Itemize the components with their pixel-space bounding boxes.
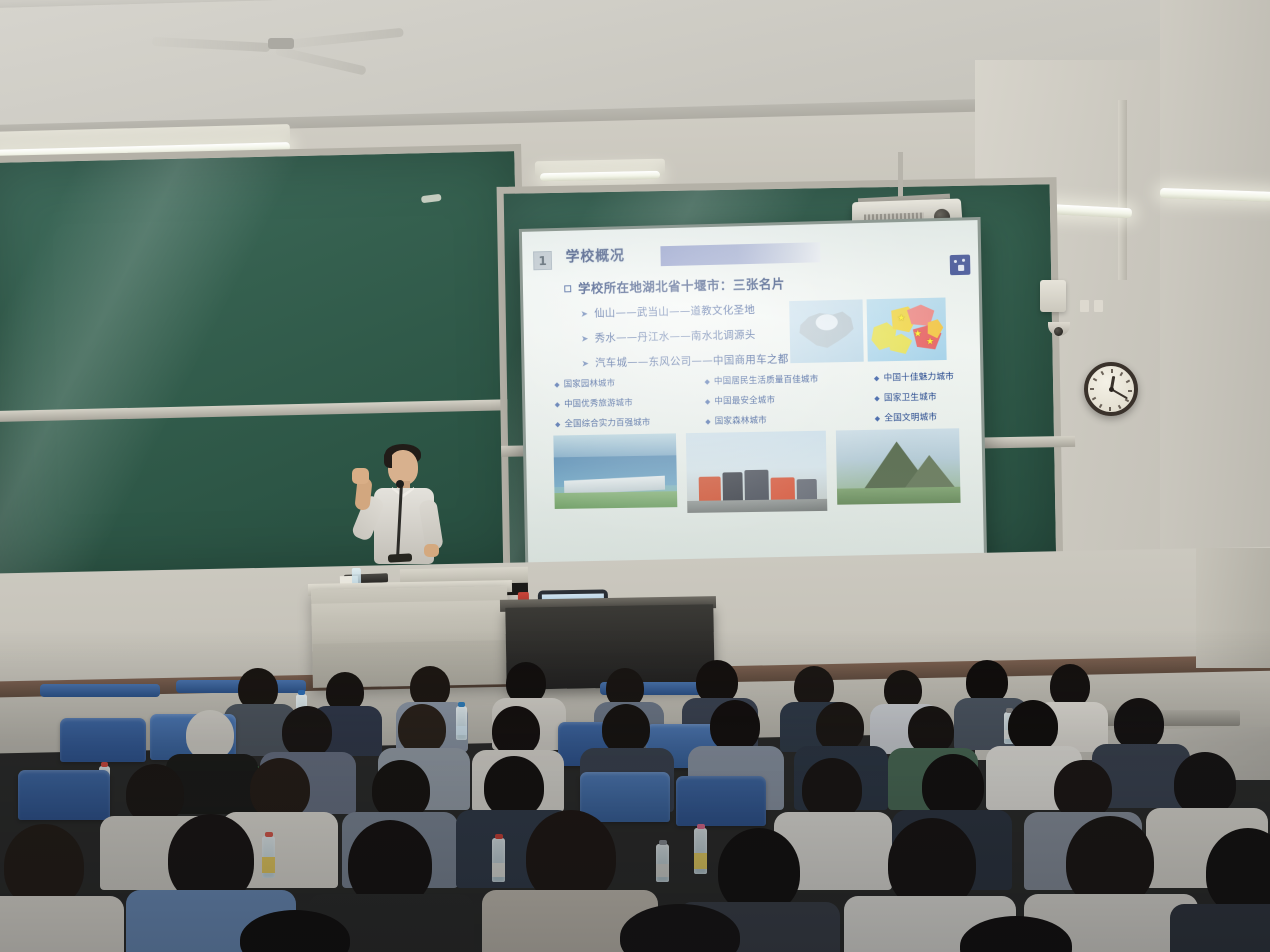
slide-awards: ◆国家园林城市 ◆中国优秀旅游城市 ◆全国综合实力百强城市 ◆中国居民生活质量百… xyxy=(554,370,955,430)
award-item: ◆中国十佳魅力城市 xyxy=(874,370,954,384)
list-item: ➤秀水——丹江水——南水北调源头 xyxy=(581,326,788,345)
wall-speaker xyxy=(1040,280,1066,312)
presenter-raised-fist xyxy=(352,468,369,484)
water-bottle xyxy=(656,844,669,882)
presenter-right-hand xyxy=(424,544,439,557)
microphone-head-icon xyxy=(396,480,404,488)
lecture-seat[interactable] xyxy=(60,718,146,762)
diamond-bullet-icon: ◆ xyxy=(555,421,561,429)
wall-pipe xyxy=(1118,100,1127,280)
award-item: ◆国家卫生城市 xyxy=(874,390,954,404)
water-bottle xyxy=(456,706,467,740)
presenter-hair-side xyxy=(384,452,392,468)
chalk-piece xyxy=(421,194,442,203)
arrow-bullet-icon: ➤ xyxy=(581,359,589,369)
slide-number-badge: 1 xyxy=(533,251,552,270)
diamond-bullet-icon: ◆ xyxy=(555,401,561,409)
projection-screen-frame: 1 学校概况 学校所在地湖北省十堰市：三张名片 ➤仙山——武当山——道教文化圣地… xyxy=(519,217,987,578)
arrow-bullet-icon: ➤ xyxy=(581,335,589,345)
award-column-3: ◆中国十佳魅力城市 ◆国家卫生城市 ◆全国文明城市 xyxy=(874,370,955,424)
dam-photo xyxy=(553,433,677,509)
wall-clock xyxy=(1084,362,1138,416)
diamond-bullet-icon: ◆ xyxy=(874,395,880,403)
lecture-seat[interactable] xyxy=(580,772,670,822)
lecture-seat[interactable] xyxy=(676,776,766,826)
presenter xyxy=(352,440,462,600)
award-item: ◆全国综合实力百强城市 xyxy=(555,416,651,430)
slide-maps: ★ ★ ★ xyxy=(789,298,946,364)
diamond-bullet-icon: ◆ xyxy=(704,378,710,386)
diamond-bullet-icon: ◆ xyxy=(874,374,880,382)
diamond-bullet-icon: ◆ xyxy=(875,415,881,423)
award-column-2: ◆中国居民生活质量百佳城市 ◆中国最安全城市 ◆国家森林城市 xyxy=(704,373,819,427)
projection-screen: 1 学校概况 学校所在地湖北省十堰市：三张名片 ➤仙山——武当山——道教文化圣地… xyxy=(522,220,984,575)
mountain-photo xyxy=(836,428,961,504)
award-item: ◆中国最安全城市 xyxy=(705,393,819,407)
bullet-square-icon xyxy=(564,285,571,292)
slide-bullet-list: ➤仙山——武当山——道教文化圣地 ➤秀水——丹江水——南水北调源头 ➤汽车城——… xyxy=(580,301,788,380)
lecture-hall-screenshot: 1 学校概况 学校所在地湖北省十堰市：三张名片 ➤仙山——武当山——道教文化圣地… xyxy=(0,0,1270,952)
hubei-map-image: ★ ★ ★ xyxy=(867,298,947,362)
microphone-base xyxy=(388,553,412,562)
award-item: ◆中国居民生活质量百佳城市 xyxy=(704,373,818,387)
seat-row-bar xyxy=(40,684,160,697)
slide-title-bar xyxy=(660,242,820,266)
school-logo-icon xyxy=(950,255,971,276)
lecture-seat[interactable] xyxy=(18,770,110,820)
award-item: ◆全国文明城市 xyxy=(875,410,955,424)
china-map-image xyxy=(789,299,864,363)
snack-cup xyxy=(262,836,275,878)
list-item: ➤汽车城——东风公司——中国商用车之都 xyxy=(581,351,788,370)
slide-title: 学校概况 xyxy=(565,245,625,266)
water-bottle xyxy=(694,828,707,874)
award-column-1: ◆国家园林城市 ◆中国优秀旅游城市 ◆全国综合实力百强城市 xyxy=(554,376,650,430)
water-bottle xyxy=(492,838,505,882)
slide-photo-row xyxy=(553,428,960,515)
audience-area xyxy=(0,648,1270,952)
diamond-bullet-icon: ◆ xyxy=(554,381,560,389)
chalk-ledge-left xyxy=(0,399,541,423)
arrow-bullet-icon: ➤ xyxy=(580,310,588,320)
wall-outlet xyxy=(1080,300,1089,312)
presenter-head xyxy=(388,450,418,485)
presentation-slide: 1 学校概况 学校所在地湖北省十堰市：三张名片 ➤仙山——武当山——道教文化圣地… xyxy=(522,220,984,575)
diamond-bullet-icon: ◆ xyxy=(705,418,711,426)
award-item: ◆国家园林城市 xyxy=(554,376,650,390)
award-item: ◆中国优秀旅游城市 xyxy=(555,396,651,410)
trucks-photo xyxy=(686,431,827,513)
list-item: ➤仙山——武当山——道教文化圣地 xyxy=(580,301,787,321)
diamond-bullet-icon: ◆ xyxy=(705,398,711,406)
projector-mount-pole xyxy=(898,152,903,200)
ceiling-fan-icon xyxy=(150,18,410,74)
wall-outlet xyxy=(1094,300,1103,312)
slide-heading: 学校所在地湖北省十堰市：三张名片 xyxy=(564,273,785,297)
award-item: ◆国家森林城市 xyxy=(705,413,819,427)
